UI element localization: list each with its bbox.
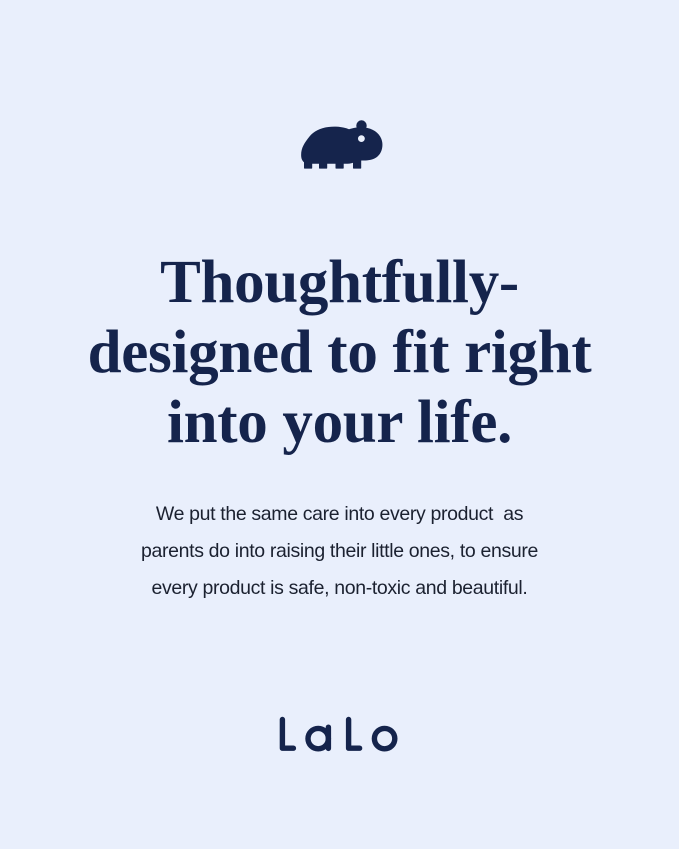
body-line-2: parents do into raising their little one… bbox=[80, 533, 600, 570]
brand-card: Thoughtfully- designed to fit right into… bbox=[0, 0, 679, 849]
body-line-1: We put the same care into every product … bbox=[80, 496, 600, 533]
headline-line-2: designed to fit right bbox=[75, 318, 605, 388]
headline-line-1: Thoughtfully- bbox=[75, 248, 605, 318]
hippo-icon bbox=[295, 116, 385, 172]
headline-line-3: into your life. bbox=[75, 388, 605, 458]
body-line-3: every product is safe, non-toxic and bea… bbox=[80, 570, 600, 607]
lalo-wordmark bbox=[278, 714, 402, 754]
page-headline: Thoughtfully- designed to fit right into… bbox=[75, 248, 605, 458]
body-paragraph: We put the same care into every product … bbox=[80, 496, 600, 607]
